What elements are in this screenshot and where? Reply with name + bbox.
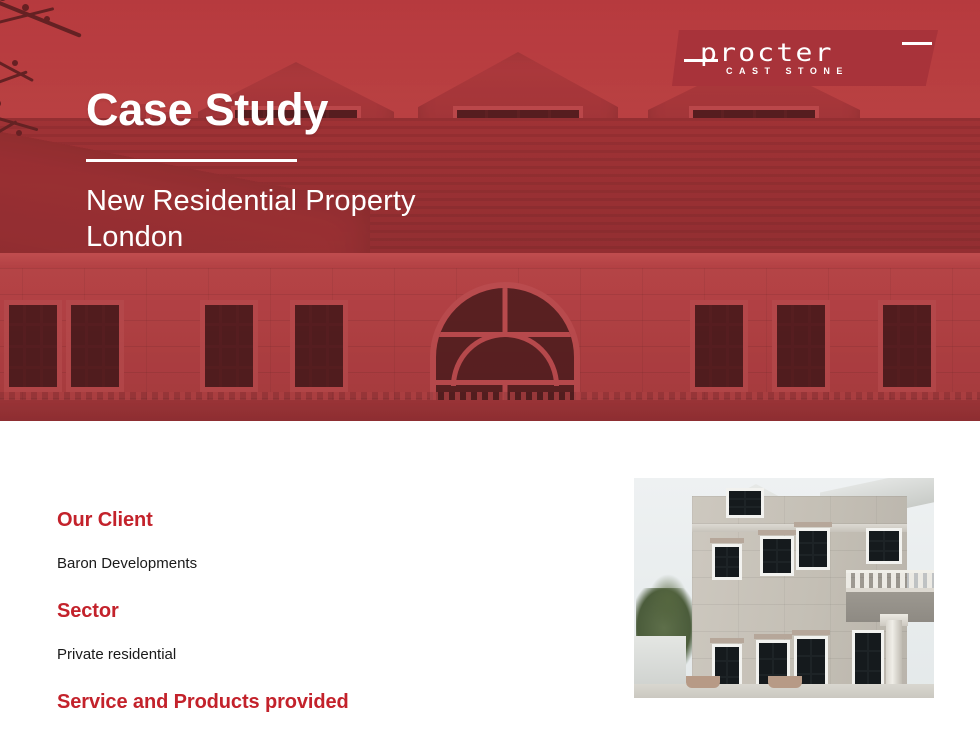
case-study-page: Case Study New Residential Property Lond… — [0, 0, 980, 740]
photo-window — [726, 488, 764, 518]
logo-overline-stroke — [902, 42, 932, 45]
photo-window — [866, 528, 902, 564]
section-heading-sector: Sector — [57, 600, 577, 623]
logo-tagline: CAST STONE — [726, 66, 849, 76]
photo-window — [760, 536, 794, 576]
detail-block-client: Our Client Baron Developments — [57, 509, 577, 572]
photo-door — [852, 630, 884, 692]
photo-tree — [648, 574, 688, 628]
content-section: Our Client Baron Developments Sector Pri… — [0, 421, 980, 740]
section-heading-service-products: Service and Products provided — [57, 691, 577, 714]
section-heading-our-client: Our Client — [57, 509, 577, 532]
photo-window-lintel — [754, 634, 792, 639]
photo-planter — [686, 676, 720, 688]
hero-subtitle-line-2: London — [86, 220, 706, 255]
photo-window — [712, 544, 742, 580]
photo-window — [796, 528, 830, 570]
logo-wordmark-text: procter — [700, 40, 834, 66]
photo-balustrade — [846, 570, 934, 592]
hero-banner: Case Study New Residential Property Lond… — [0, 0, 980, 421]
photo-window-lintel — [758, 530, 796, 535]
client-name-value: Baron Developments — [57, 555, 577, 572]
photo-outbuilding — [634, 636, 686, 688]
details-column: Our Client Baron Developments Sector Pri… — [57, 509, 577, 740]
detail-block-services: Service and Products provided — [57, 691, 577, 714]
project-photo — [634, 478, 934, 698]
logo-wordmark-group: procter — [700, 40, 918, 66]
detail-block-sector: Sector Private residential — [57, 600, 577, 663]
page-title: Case Study — [86, 86, 706, 133]
photo-window-lintel — [710, 538, 744, 543]
procter-logo[interactable]: procter CAST STONE — [672, 30, 938, 86]
photo-window-lintel — [794, 522, 832, 527]
sector-value: Private residential — [57, 646, 577, 663]
hero-subtitle-line-1: New Residential Property — [86, 184, 706, 219]
photo-planter — [768, 676, 802, 688]
photo-window-lintel — [710, 638, 744, 643]
title-divider-rule — [86, 159, 297, 162]
photo-window-lintel — [792, 630, 830, 635]
hero-subtitle: New Residential Property London — [86, 184, 706, 255]
hero-text-block: Case Study New Residential Property Lond… — [86, 86, 706, 255]
